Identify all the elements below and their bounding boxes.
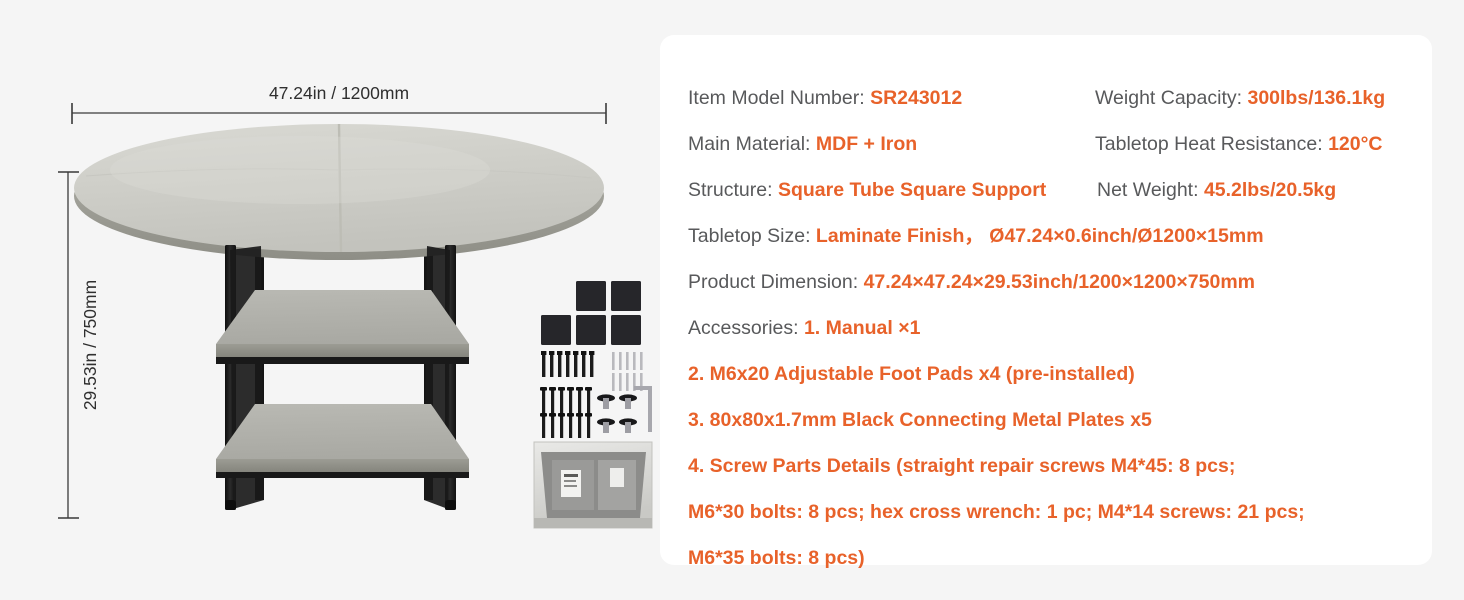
lower-shelf-rail	[216, 472, 469, 478]
spec-row-heat-resistance: Tabletop Heat Resistance: 120°C	[1095, 133, 1382, 155]
spec-value: Laminate Finish， Ø47.24×0.6inch/Ø1200×15…	[816, 225, 1264, 247]
spec-value: SR243012	[870, 87, 962, 109]
spec-label: Weight Capacity:	[1095, 87, 1247, 109]
height-dimension	[58, 172, 79, 518]
bolts-row-b	[540, 413, 592, 438]
adjustable-foot-pads	[597, 394, 637, 433]
spec-label: Net Weight:	[1097, 179, 1204, 201]
spec-value: 300lbs/136.1kg	[1247, 87, 1385, 109]
accessory-line-2: 2. M6x20 Adjustable Foot Pads x4 (pre-in…	[688, 363, 1135, 385]
spec-row-weight-capacity: Weight Capacity: 300lbs/136.1kg	[1095, 87, 1385, 109]
accessory-line-4: 4. Screw Parts Details (straight repair …	[688, 455, 1235, 477]
specification-panel: Item Model Number: SR243012 Weight Capac…	[660, 35, 1432, 565]
spec-row-tabletop-size: Tabletop Size: Laminate Finish， Ø47.24×0…	[688, 225, 1264, 247]
product-diagram: 47.24in / 1200mm 29.53in / 750mm	[0, 0, 660, 600]
spec-row-item-model-number: Item Model Number: SR243012	[688, 87, 962, 109]
spec-value: 1. Manual ×1	[804, 317, 921, 339]
repair-screws	[541, 351, 594, 377]
spec-label: Item Model Number:	[688, 87, 870, 109]
spec-value: 120°C	[1328, 133, 1382, 155]
lower-shelf	[216, 404, 469, 472]
spec-label: Tabletop Size:	[688, 225, 816, 247]
upper-shelf	[216, 290, 469, 357]
spec-label: Structure:	[688, 179, 778, 201]
spec-label: Product Dimension:	[688, 271, 864, 293]
upper-shelf-rail	[216, 357, 469, 364]
width-dimension-label: 47.24in / 1200mm	[269, 83, 409, 103]
height-dimension-label: 29.53in / 750mm	[80, 280, 100, 410]
spec-value: MDF + Iron	[816, 133, 917, 155]
packaging-photo	[534, 442, 652, 528]
spec-label: Main Material:	[688, 133, 816, 155]
hex-wrench	[634, 386, 652, 432]
spec-value: 45.2lbs/20.5kg	[1204, 179, 1336, 201]
foot-front-left	[225, 500, 236, 510]
metal-plate	[541, 315, 641, 345]
accessory-line-3: 3. 80x80x1.7mm Black Connecting Metal Pl…	[688, 409, 1152, 431]
width-dimension	[72, 103, 606, 124]
accessory-line-5: M6*30 bolts: 8 pcs; hex cross wrench: 1 …	[688, 501, 1305, 523]
spec-row-product-dimension: Product Dimension: 47.24×47.24×29.53inch…	[688, 271, 1255, 293]
accessory-line-6: M6*35 bolts: 8 pcs)	[688, 547, 865, 569]
spec-value: Square Tube Square Support	[778, 179, 1046, 201]
spec-label: Accessories:	[688, 317, 804, 339]
foot-front-right	[445, 500, 456, 510]
tabletop-highlight	[110, 136, 490, 204]
bolts-row-a	[540, 387, 592, 414]
spec-label: Tabletop Heat Resistance:	[1095, 133, 1328, 155]
table-illustration	[74, 124, 604, 510]
spec-row-structure: Structure: Square Tube Square Support	[688, 179, 1046, 201]
metal-plate	[576, 281, 641, 311]
silver-screws	[612, 352, 643, 391]
spec-row-main-material: Main Material: MDF + Iron	[688, 133, 917, 155]
spec-row-accessories: Accessories: 1. Manual ×1	[688, 317, 920, 339]
spec-row-net-weight: Net Weight: 45.2lbs/20.5kg	[1097, 179, 1336, 201]
hardware-parts	[534, 281, 652, 528]
spec-value: 47.24×47.24×29.53inch/1200×1200×750mm	[864, 271, 1255, 293]
